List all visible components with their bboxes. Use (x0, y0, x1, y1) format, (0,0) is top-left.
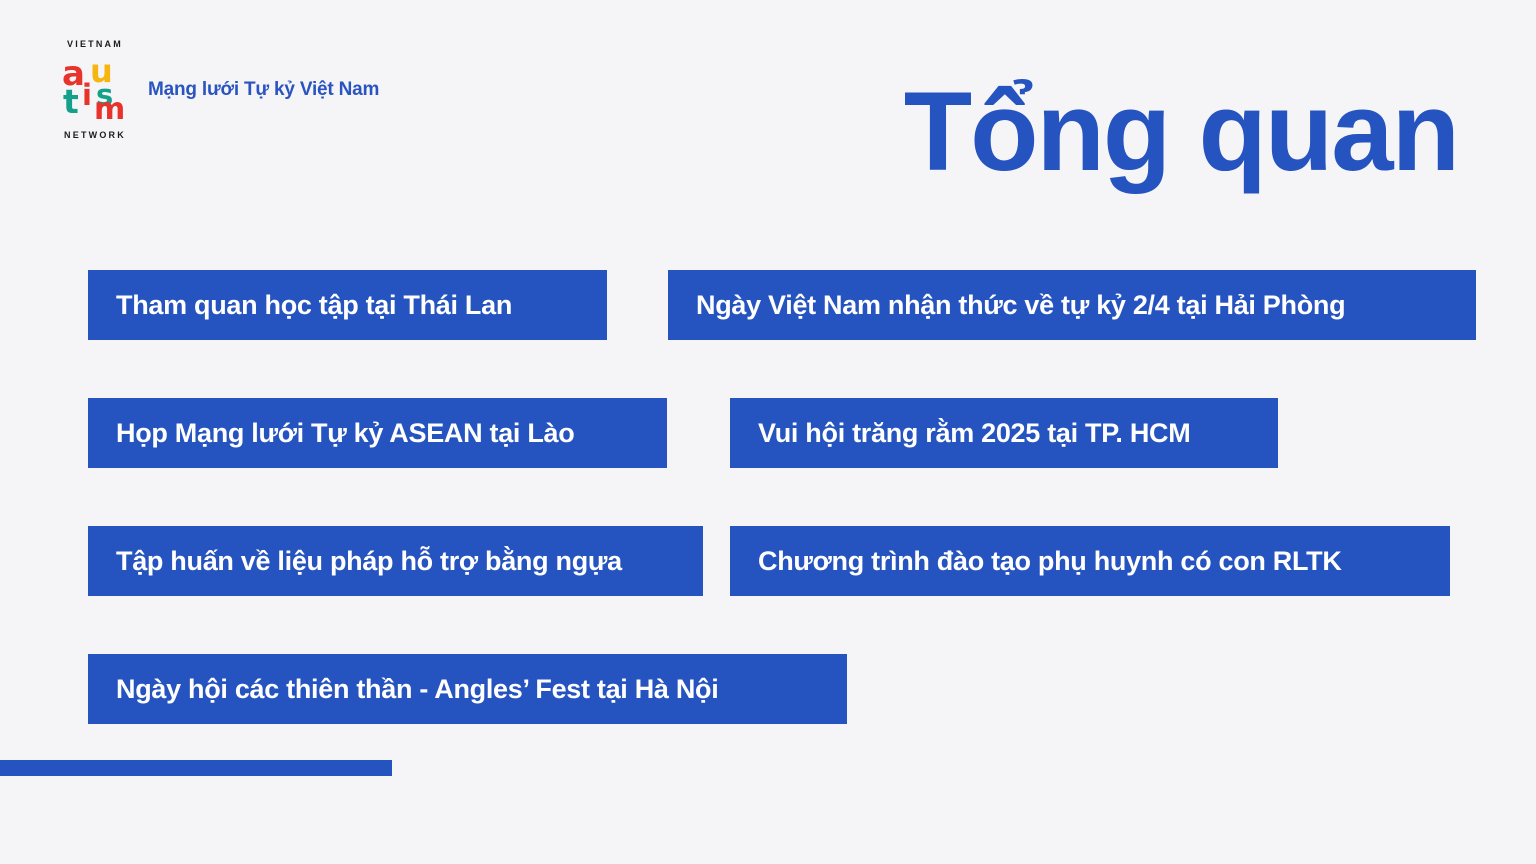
agenda-item-label: Ngày Việt Nam nhận thức về tự kỷ 2/4 tại… (696, 290, 1345, 321)
logo-letter-m: m (94, 95, 125, 125)
agenda-item-box[interactable]: Họp Mạng lưới Tự kỷ ASEAN tại Lào (88, 398, 667, 468)
page-title: Tổng quan (904, 76, 1458, 188)
autism-network-logo-mark: VIETNAM a u t i s m NETWORK (56, 40, 134, 140)
organization-name-label: Mạng lưới Tự kỷ Việt Nam (148, 79, 379, 101)
agenda-item-box[interactable]: Ngày hội các thiên thần - Angles’ Fest t… (88, 654, 847, 724)
logo-bottom-word: NETWORK (64, 131, 126, 140)
agenda-item-label: Tham quan học tập tại Thái Lan (116, 290, 512, 321)
agenda-item-box[interactable]: Ngày Việt Nam nhận thức về tự kỷ 2/4 tại… (668, 270, 1476, 340)
logo-letters-group: a u t i s m (60, 55, 130, 125)
agenda-item-label: Vui hội trăng rằm 2025 tại TP. HCM (758, 418, 1190, 449)
organization-logo-block: VIETNAM a u t i s m NETWORK Mạng lưới Tự… (56, 40, 379, 140)
agenda-item-label: Chương trình đào tạo phụ huynh có con RL… (758, 546, 1342, 577)
agenda-item-box[interactable]: Tham quan học tập tại Thái Lan (88, 270, 607, 340)
logo-letter-t: t (63, 85, 79, 118)
agenda-item-box[interactable]: Chương trình đào tạo phụ huynh có con RL… (730, 526, 1450, 596)
agenda-item-label: Tập huấn về liệu pháp hỗ trợ bằng ngựa (116, 546, 622, 577)
agenda-item-label: Họp Mạng lưới Tự kỷ ASEAN tại Lào (116, 418, 574, 449)
logo-top-word: VIETNAM (67, 40, 123, 49)
bottom-accent-bar (0, 760, 392, 776)
logo-letter-i: i (82, 81, 92, 110)
agenda-item-box[interactable]: Vui hội trăng rằm 2025 tại TP. HCM (730, 398, 1278, 468)
agenda-item-box[interactable]: Tập huấn về liệu pháp hỗ trợ bằng ngựa (88, 526, 703, 596)
agenda-item-label: Ngày hội các thiên thần - Angles’ Fest t… (116, 674, 718, 705)
